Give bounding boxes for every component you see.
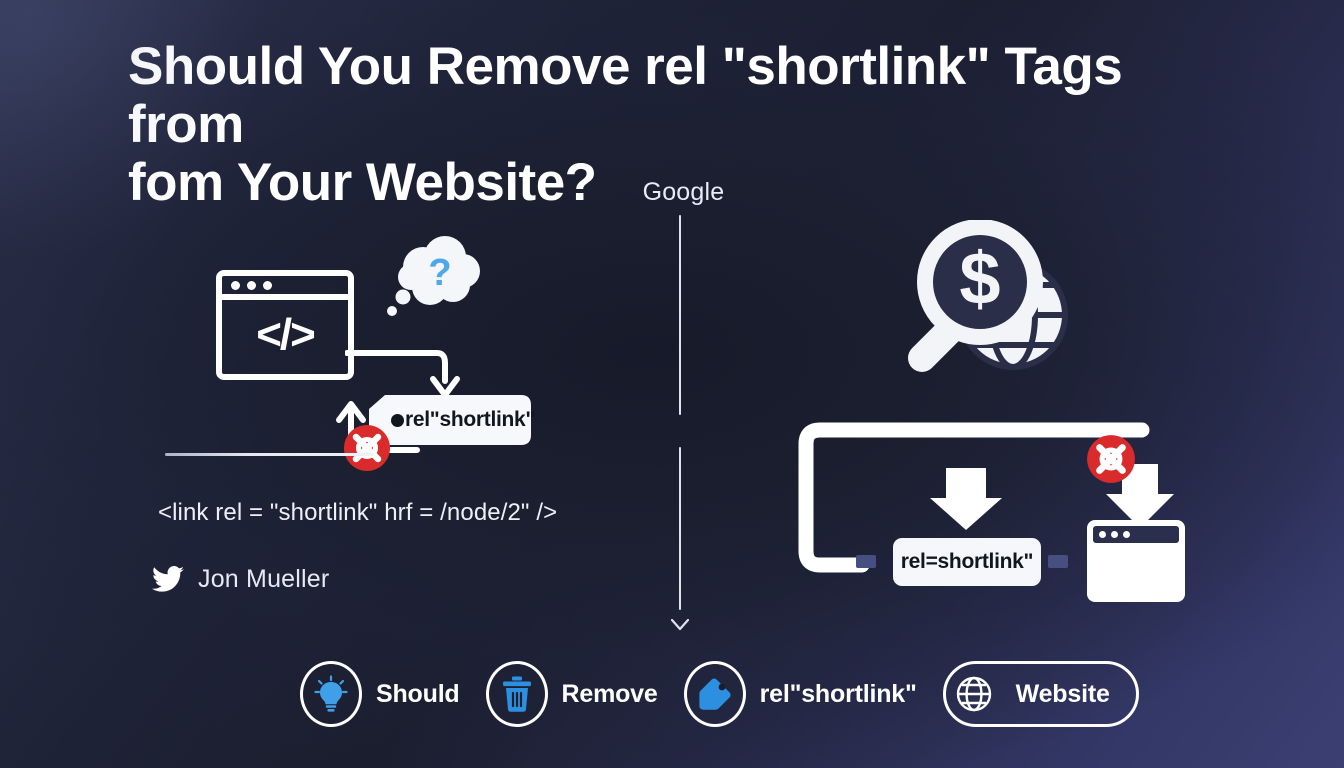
tag-bullet-dot — [391, 414, 404, 427]
svg-text:?: ? — [428, 252, 451, 294]
x-circle-icon — [342, 423, 392, 473]
title-row-2: fom Your Website? Google — [128, 154, 1218, 212]
tag-icon — [684, 661, 746, 727]
credit-name: Jon Mueller — [198, 565, 329, 594]
browser-dot — [1099, 531, 1106, 538]
horizontal-rule — [165, 453, 373, 456]
divider-segment-bottom — [679, 447, 681, 610]
page-title-line2: fom Your Website? — [128, 154, 597, 212]
browser-dot — [1111, 531, 1118, 538]
browser-window-icon — [1087, 520, 1185, 602]
chip-label: Remove — [562, 680, 658, 709]
lightbulb-icon — [300, 661, 362, 727]
chevron-down-icon — [671, 619, 689, 631]
thought-bubble-question-icon: ? — [385, 235, 485, 321]
chip-website[interactable]: Website — [943, 661, 1139, 727]
right-illustration: $ rel=shortlink" — [790, 215, 1210, 615]
chip-label: rel"shortlink" — [760, 680, 917, 709]
browser-dot — [1123, 531, 1130, 538]
connector-square — [1048, 555, 1068, 568]
connector-square — [856, 555, 876, 568]
flow-diagram: rel=shortlink" — [790, 420, 1210, 610]
left-illustration: </> ? — [140, 225, 660, 615]
code-glyph: </> — [222, 300, 348, 374]
chip-shortlink[interactable]: rel"shortlink" — [684, 661, 917, 727]
browser-window-code-icon: </> — [216, 270, 354, 380]
header: Should You Remove rel "shortlink" Tags f… — [128, 38, 1218, 212]
twitter-bird-icon — [152, 566, 184, 594]
source-label: Google — [643, 178, 725, 207]
tag-label-text: rel"shortlink" — [405, 395, 535, 445]
magnifier-dollar-globe-icon: $ — [850, 220, 1080, 380]
bottom-chip-row: Should Remove — [300, 661, 1139, 727]
dollar-sign-glyph: $ — [959, 237, 1000, 320]
browser-dot — [247, 281, 256, 290]
infographic-canvas: Should You Remove rel "shortlink" Tags f… — [0, 0, 1344, 768]
x-circle-icon — [1085, 433, 1135, 483]
browser-dot — [263, 281, 272, 290]
chip-should[interactable]: Should — [300, 661, 460, 727]
browser-titlebar — [1093, 526, 1179, 543]
shortlink-tag-callout: rel"shortlink" — [369, 395, 531, 445]
chip-label: Website — [1016, 680, 1110, 709]
browser-titlebar — [222, 276, 348, 300]
chip-remove[interactable]: Remove — [486, 661, 658, 727]
page-title-line1: Should You Remove rel "shortlink" Tags f… — [128, 38, 1218, 154]
chip-label: Should — [376, 680, 460, 709]
code-snippet-text: <link rel = "shortlink" hrf = /node/2" /… — [158, 499, 557, 527]
divider-segment-top — [679, 215, 681, 415]
globe-icon — [950, 670, 998, 718]
flow-label-box: rel=shortlink" — [893, 538, 1041, 586]
credit-attribution: Jon Mueller — [152, 565, 329, 594]
browser-dot — [231, 281, 240, 290]
trash-icon — [486, 661, 548, 727]
